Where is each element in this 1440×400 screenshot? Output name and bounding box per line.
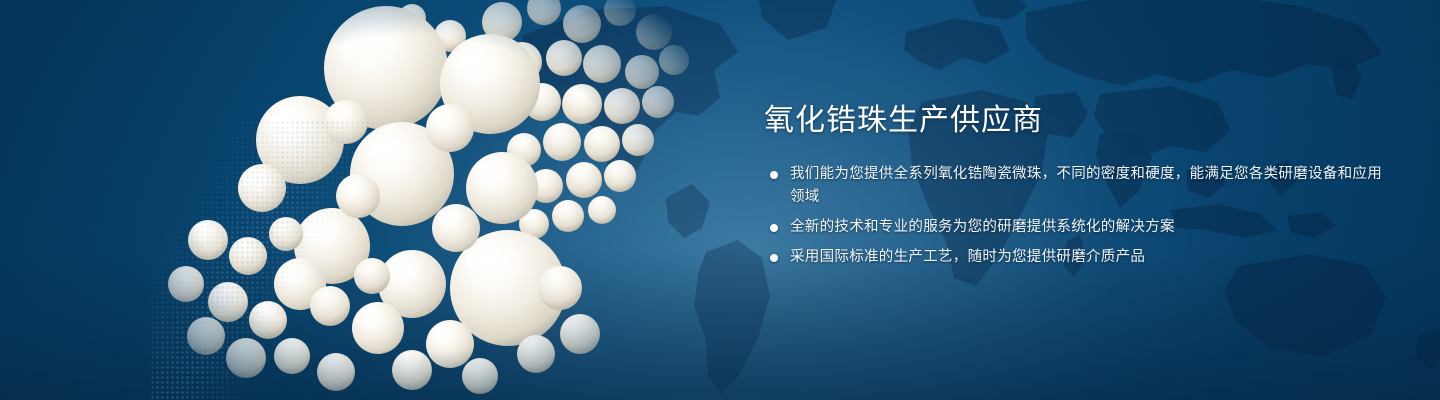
list-item: 全新的技术和专业的服务为您的研磨提供系统化的解决方案 — [762, 216, 1382, 239]
list-item: 我们能为您提供全系列氧化锆陶瓷微珠，不同的密度和硬度，能满足您各类研磨设备和应用… — [762, 163, 1382, 209]
list-item-label: 全新的技术和专业的服务为您的研磨提供系统化的解决方案 — [790, 219, 1175, 235]
zirconia-beads-photo — [150, 0, 720, 400]
feature-bullet-list: 我们能为您提供全系列氧化锆陶瓷微珠，不同的密度和硬度，能满足您各类研磨设备和应用… — [762, 163, 1382, 269]
list-item: 采用国际标准的生产工艺，随时为您提供研磨介质产品 — [762, 246, 1382, 269]
banner-copy: 氧化锆珠生产供应商 我们能为您提供全系列氧化锆陶瓷微珠，不同的密度和硬度，能满足… — [762, 104, 1382, 269]
bullet-dot-icon — [770, 254, 778, 262]
bullet-dot-icon — [770, 224, 778, 232]
hero-banner: 氧化锆珠生产供应商 我们能为您提供全系列氧化锆陶瓷微珠，不同的密度和硬度，能满足… — [0, 0, 1440, 400]
list-item-label: 采用国际标准的生产工艺，随时为您提供研磨介质产品 — [790, 249, 1145, 265]
page-title: 氧化锆珠生产供应商 — [764, 104, 1382, 137]
list-item-label: 我们能为您提供全系列氧化锆陶瓷微珠，不同的密度和硬度，能满足您各类研磨设备和应用… — [790, 166, 1382, 205]
bullet-dot-icon — [770, 171, 778, 179]
